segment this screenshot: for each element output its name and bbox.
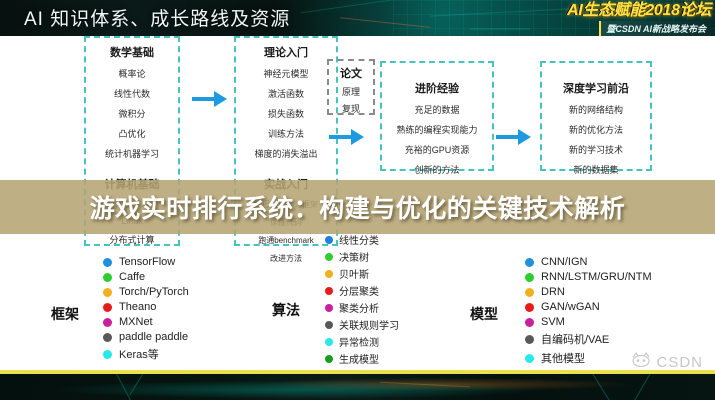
legend-bullet-icon: [325, 304, 333, 312]
list-item: 生成模型: [325, 351, 399, 366]
box-item: 改进方法: [236, 253, 336, 264]
legend-item-label: Caffe: [119, 271, 145, 283]
box-item: 凸优化: [86, 127, 178, 140]
box-item: 新的网络结构: [542, 103, 650, 116]
box-item: 原理: [329, 85, 373, 98]
box-title: 理论入门: [236, 44, 336, 60]
legend-bullet-icon: [325, 236, 333, 244]
legend-bullet-icon: [525, 318, 534, 327]
legend-bullet-icon: [103, 318, 112, 327]
legend-bullet-icon: [103, 303, 112, 312]
legend-item-label: CNN/IGN: [541, 256, 587, 268]
legend-bullet-icon: [103, 350, 112, 359]
forum-logo-sub: 暨CSDN AI新战略发布会: [599, 21, 711, 36]
legend-item-label: SVM: [541, 316, 565, 328]
box-title: 深度学习前沿: [542, 80, 650, 96]
box-item: 复现: [329, 102, 373, 115]
overlay-title-text: 游戏实时排行系统：构建与优化的关键技术解析: [90, 189, 626, 225]
box-title: 进阶经验: [382, 80, 492, 96]
screenshot-root: AI 知识体系、成长路线及资源 AI生态赋能2018论坛 暨CSDN AI新战略…: [0, 0, 715, 400]
legend-item-label: GAN/wGAN: [541, 301, 600, 313]
box-item: 熟练的编程实现能力: [382, 123, 492, 136]
legend-bullet-icon: [325, 321, 333, 329]
legend-item-label: 分层聚类: [339, 283, 379, 298]
legend-bullet-icon: [325, 355, 333, 363]
box-item: 概率论: [86, 67, 178, 80]
footer-streak-decoration: [576, 374, 614, 400]
legend-item-label: paddle paddle: [119, 331, 188, 343]
box-item: 充足的数据: [382, 103, 492, 116]
box-item: 统计机器学习: [86, 147, 178, 160]
legend-item-label: Torch/PyTorch: [119, 286, 189, 298]
page-title: AI 知识体系、成长路线及资源: [24, 4, 290, 31]
footer-streak-decoration: [105, 374, 134, 400]
box-item: 训练方法: [236, 127, 336, 140]
legend-item-label: 线性分类: [339, 232, 379, 247]
legend-bullet-icon: [103, 333, 112, 342]
overlay-title-banner: 游戏实时排行系统：构建与优化的关键技术解析: [0, 180, 715, 234]
forum-logo-main: AI生态赋能2018论坛: [546, 2, 711, 19]
list-item: 自编码机/VAE: [525, 331, 652, 347]
legend-bullet-icon: [525, 258, 534, 267]
legend-bullet-icon: [103, 258, 112, 267]
footer-streak-decoration: [380, 382, 470, 388]
box-item: 充裕的GPU资源: [382, 143, 492, 156]
box-item: 新的数据集: [542, 163, 650, 176]
legend-item-label: MXNet: [119, 316, 153, 328]
legend-item-label: 贝叶斯: [339, 266, 369, 281]
footer-streak-decoration: [632, 374, 658, 400]
list-item: 线性分类: [325, 232, 399, 247]
list-item: RNN/LSTM/GRU/NTM: [525, 271, 652, 283]
legend-bullet-icon: [525, 288, 534, 297]
csdn-watermark-label: CSDN: [656, 354, 703, 371]
legend-item-label: Keras等: [119, 346, 159, 362]
box-item: 跑通benchmark: [236, 235, 336, 246]
box-item: 微积分: [86, 107, 178, 120]
arrow-right-icon-3: [496, 126, 532, 148]
page-header: AI 知识体系、成长路线及资源 AI生态赋能2018论坛 暨CSDN AI新战略…: [0, 0, 715, 36]
legend-item-label: 异常检测: [339, 334, 379, 349]
legend-bullet-icon: [103, 288, 112, 297]
box-item: 神经元模型: [236, 67, 336, 80]
legend-item-label: DRN: [541, 286, 565, 298]
box-item: 新的优化方法: [542, 123, 650, 136]
page-footer: [0, 374, 715, 400]
list-item: Caffe: [103, 271, 189, 283]
box-item: 分布式计算: [86, 233, 178, 246]
legend-bullet-icon: [325, 253, 333, 261]
list-item: SVM: [525, 316, 652, 328]
legend-item-label: 自编码机/VAE: [541, 331, 609, 347]
list-item: 关联规则学习: [325, 317, 399, 332]
legend-item-label: 其他模型: [541, 350, 585, 366]
list-item: Torch/PyTorch: [103, 286, 189, 298]
list-item: 分层聚类: [325, 283, 399, 298]
footer-streak-decoration: [129, 374, 151, 396]
box-item: 创新的方法: [382, 163, 492, 176]
list-item: 聚类分析: [325, 300, 399, 315]
list-item: paddle paddle: [103, 331, 189, 343]
box-item: 新的学习技术: [542, 143, 650, 156]
list-item: MXNet: [103, 316, 189, 328]
legend-item-label: RNN/LSTM/GRU/NTM: [541, 271, 652, 283]
diagram-box-dl-frontier: 深度学习前沿 新的网络结构 新的优化方法 新的学习技术 新的数据集: [540, 61, 652, 171]
arrow-right-icon-2: [329, 126, 365, 148]
legend-label: 模型: [470, 304, 498, 324]
list-item: CNN/IGN: [525, 256, 652, 268]
header-streak-decoration: [470, 28, 530, 30]
legend-bullet-icon: [325, 270, 333, 278]
legend-bullet-icon: [525, 303, 534, 312]
legend-item-label: TensorFlow: [119, 256, 175, 268]
list-item: Theano: [103, 301, 189, 313]
box-item: 线性代数: [86, 87, 178, 100]
box-item: 梯度的消失溢出: [236, 147, 336, 160]
legend-label: 框架: [51, 304, 79, 324]
list-item: 异常检测: [325, 334, 399, 349]
arrow-right-icon-1: [192, 88, 228, 110]
list-item: GAN/wGAN: [525, 301, 652, 313]
legend-bullet-icon: [325, 338, 333, 346]
diagram-box-advanced-experience: 进阶经验 充足的数据 熟练的编程实现能力 充裕的GPU资源 创新的方法: [380, 61, 494, 171]
legend-item-label: Theano: [119, 301, 156, 313]
legend-bullet-icon: [525, 335, 534, 344]
legend-bullet-icon: [525, 273, 534, 282]
diagram-box-paper: 论文 原理 复现: [327, 59, 375, 115]
forum-logo: AI生态赋能2018论坛 暨CSDN AI新战略发布会: [546, 2, 711, 34]
legend-bullet-icon: [325, 287, 333, 295]
box-title: 数学基础: [86, 44, 178, 60]
legend-bullet-icon: [103, 273, 112, 282]
legend-item-label: 决策树: [339, 249, 369, 264]
box-item: 激活函数: [236, 87, 336, 100]
legend-label: 算法: [272, 300, 300, 320]
box-item: 损失函数: [236, 107, 336, 120]
list-item: 决策树: [325, 249, 399, 264]
legend-list: TensorFlow Caffe Torch/PyTorch Theano MX…: [103, 256, 189, 365]
legend-item-label: 聚类分析: [339, 300, 379, 315]
legend-bullet-icon: [525, 354, 534, 363]
list-item: TensorFlow: [103, 256, 189, 268]
list-item: 贝叶斯: [325, 266, 399, 281]
list-item: Keras等: [103, 346, 189, 362]
legend-item-label: 关联规则学习: [339, 317, 399, 332]
legend-item-label: 生成模型: [339, 351, 379, 366]
list-item: DRN: [525, 286, 652, 298]
box-title: 论文: [329, 65, 373, 81]
